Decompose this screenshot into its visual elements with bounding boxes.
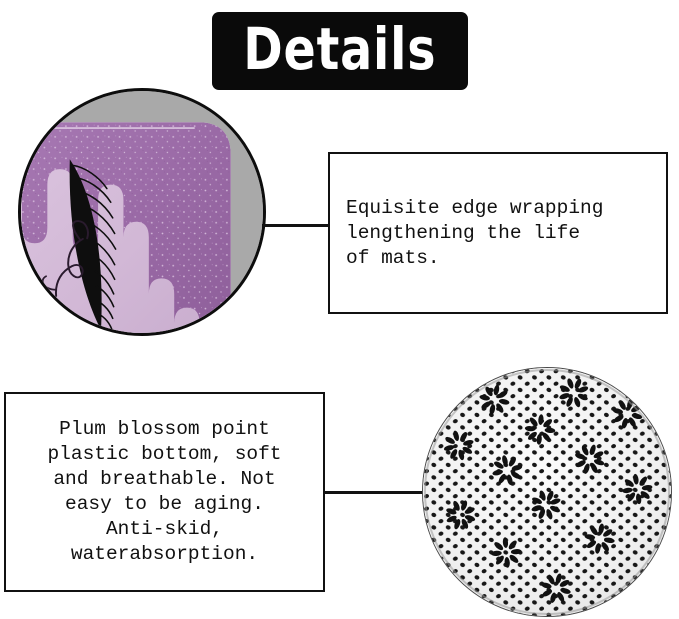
connector-line-edge [262,224,330,227]
mat-edge-illustration [21,91,263,333]
photo-mat-edge-closeup [18,88,266,336]
callout-edge-wrapping: Equisite edge wrapping lengthening the l… [328,152,668,314]
connector-line-bottom [324,491,428,494]
details-infographic: Details [0,0,679,619]
callout-plastic-bottom-text: Plum blossom point plastic bottom, soft … [16,417,313,567]
callout-plastic-bottom: Plum blossom point plastic bottom, soft … [4,392,325,592]
anti-skid-illustration [423,368,671,616]
page-title: Details [243,20,436,82]
page-title-banner: Details [212,12,468,90]
photo-anti-skid-backing [422,367,672,617]
callout-edge-wrapping-text: Equisite edge wrapping lengthening the l… [346,196,658,271]
